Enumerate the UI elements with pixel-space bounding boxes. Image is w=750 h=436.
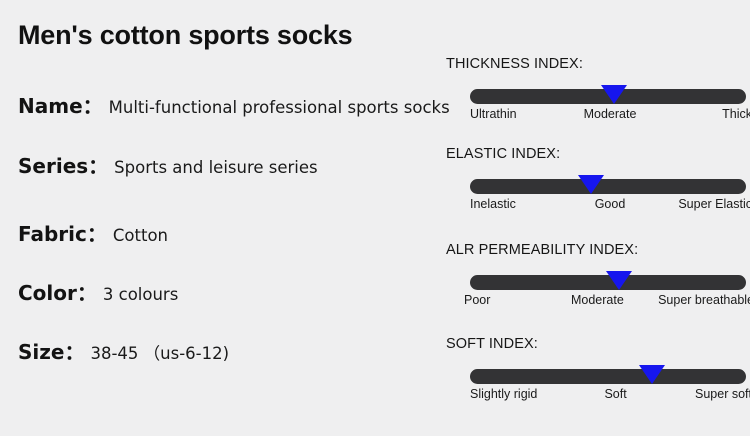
spec-value-series: Sports and leisure series bbox=[114, 158, 317, 177]
soft-slider[interactable] bbox=[470, 363, 746, 385]
spec-colon: ： bbox=[83, 90, 109, 119]
spec-row: Fabric ： Cotton bbox=[18, 218, 168, 247]
slider-marker-icon[interactable] bbox=[601, 85, 627, 104]
slider-scale-labels: Ultrathin Moderate Thick bbox=[470, 107, 750, 125]
spec-colon: ： bbox=[77, 277, 103, 306]
spec-value-name: Multi-functional professional sports soc… bbox=[109, 98, 450, 117]
slider-label-mid: Good bbox=[595, 197, 626, 211]
spec-colon: ： bbox=[87, 218, 113, 247]
slider-label-right: Super Elastic bbox=[678, 197, 750, 211]
slider-marker-icon[interactable] bbox=[578, 175, 604, 194]
spec-value-size: 38-45 （us-6-12) bbox=[90, 340, 229, 364]
index-title: THICKNESS INDEX: bbox=[446, 56, 583, 72]
slider-label-mid: Moderate bbox=[571, 293, 624, 307]
elastic-slider[interactable] bbox=[470, 173, 746, 195]
spec-label-series: Series bbox=[18, 154, 88, 178]
slider-label-mid: Moderate bbox=[584, 107, 637, 121]
slider-label-mid: Soft bbox=[604, 387, 626, 401]
slider-label-left: Slightly rigid bbox=[470, 387, 537, 401]
slider-label-right: Super breathable bbox=[658, 293, 750, 307]
slider-label-left: Inelastic bbox=[470, 197, 516, 211]
slider-marker-icon[interactable] bbox=[639, 365, 665, 384]
slider-label-right: Thick bbox=[722, 107, 750, 121]
slider-scale-labels: Poor Moderate Super breathable bbox=[464, 293, 750, 311]
slider-track[interactable] bbox=[470, 369, 746, 384]
spec-label-fabric: Fabric bbox=[18, 222, 87, 246]
spec-value-color: 3 colours bbox=[103, 285, 178, 304]
slider-scale-labels: Slightly rigid Soft Super soft bbox=[470, 387, 750, 405]
spec-value-fabric: Cotton bbox=[113, 226, 168, 245]
spec-row: Color ： 3 colours bbox=[18, 277, 178, 306]
permeability-slider[interactable] bbox=[470, 269, 746, 291]
spec-colon: ： bbox=[88, 150, 114, 179]
spec-label-name: Name bbox=[18, 94, 83, 118]
product-spec-panel: Men's cotton sports socks Name ： Multi-f… bbox=[0, 0, 750, 436]
thickness-slider[interactable] bbox=[470, 83, 746, 105]
slider-label-right: Super soft bbox=[695, 387, 750, 401]
slider-scale-labels: Inelastic Good Super Elastic bbox=[470, 197, 750, 215]
spec-row: Size ： 38-45 （us-6-12) bbox=[18, 336, 229, 365]
slider-label-left: Poor bbox=[464, 293, 490, 307]
page-title: Men's cotton sports socks bbox=[18, 20, 353, 51]
slider-marker-icon[interactable] bbox=[606, 271, 632, 290]
spec-row: Name ： Multi-functional professional spo… bbox=[18, 90, 450, 119]
spec-row: Series ： Sports and leisure series bbox=[18, 150, 318, 179]
spec-colon: ： bbox=[64, 336, 90, 365]
index-sliders-panel: THICKNESS INDEX: Ultrathin Moderate Thic… bbox=[440, 0, 750, 436]
product-info-panel: Men's cotton sports socks Name ： Multi-f… bbox=[0, 0, 440, 436]
index-title: SOFT INDEX: bbox=[446, 336, 538, 352]
spec-label-size: Size bbox=[18, 340, 64, 364]
slider-track[interactable] bbox=[470, 179, 746, 194]
index-title: ALR PERMEABILITY INDEX: bbox=[446, 242, 638, 258]
slider-label-left: Ultrathin bbox=[470, 107, 517, 121]
index-title: ELASTIC INDEX: bbox=[446, 146, 560, 162]
spec-label-color: Color bbox=[18, 281, 77, 305]
